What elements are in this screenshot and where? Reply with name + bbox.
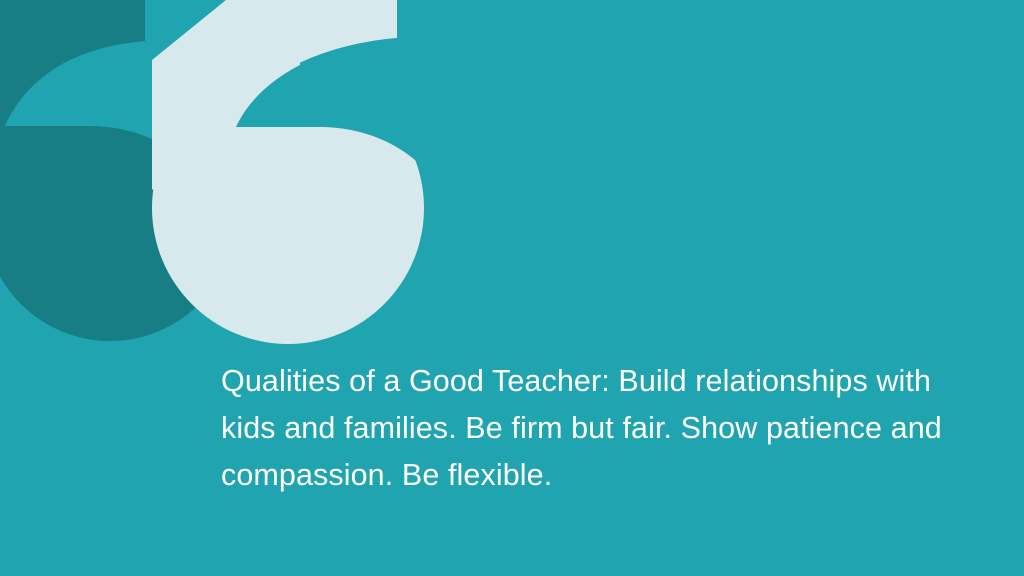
quote-slide: Qualities of a Good Teacher: Build relat… [0,0,1024,576]
quote-text: Qualities of a Good Teacher: Build relat… [221,358,981,499]
quote-text-block: Qualities of a Good Teacher: Build relat… [221,358,981,499]
